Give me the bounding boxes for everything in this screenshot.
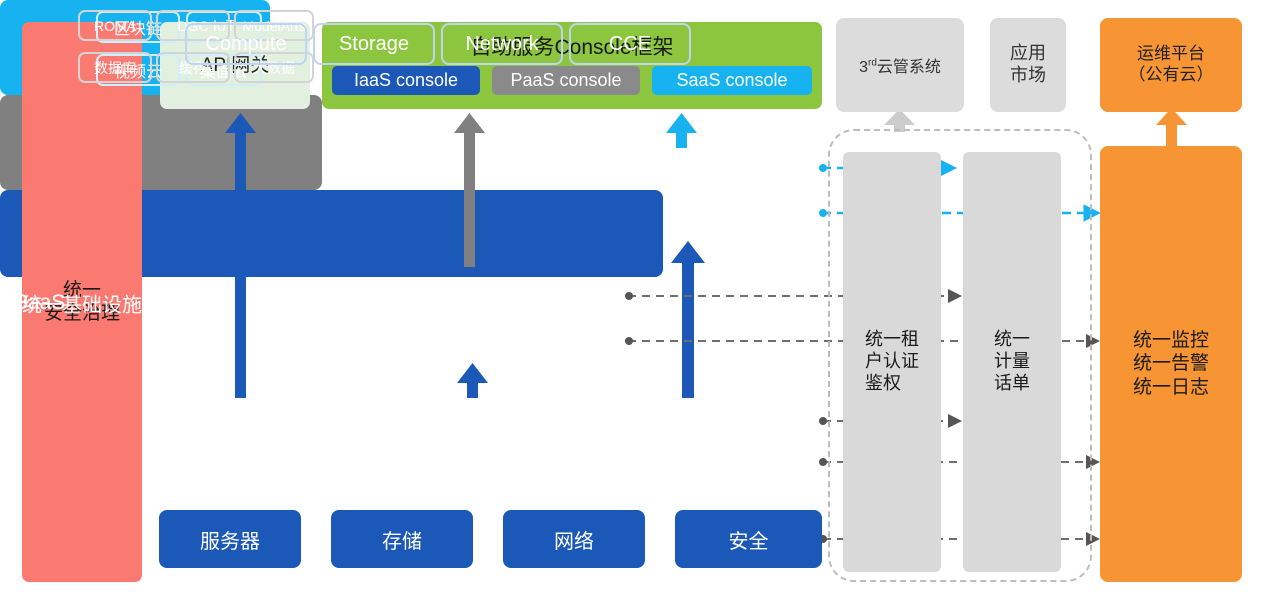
architecture-diagram: 统一租 户认证 鉴权 统一 计量 话单 统一 安全治理 API网关 自助服务Co… [0, 0, 1265, 605]
infra-service-cce-label: CCE [609, 33, 651, 56]
iaas-console-label: IaaS console [354, 70, 458, 91]
infra-service-network[interactable]: Network [441, 23, 563, 65]
resource-server[interactable]: 服务器 [159, 510, 301, 568]
resource-server-label: 服务器 [200, 525, 260, 554]
infra-service-network-label: Network [465, 33, 538, 56]
paas-console-label: PaaS console [510, 70, 621, 91]
saas-console-pill[interactable]: SaaS console [652, 66, 812, 95]
arrow-infra-to-paas [457, 363, 488, 398]
third-party-superscript: rd [868, 58, 877, 69]
third-party-label: 3rd云管系统 [859, 53, 941, 77]
paas-service-roma[interactable]: ROMA [78, 10, 152, 41]
infra-service-storage-label: Storage [339, 33, 409, 56]
saas-console-label: SaaS console [676, 70, 787, 91]
infra-service-storage[interactable]: Storage [313, 23, 435, 65]
infrastructure-name: 统一基础设施服务 [22, 288, 182, 317]
third-party-prefix: 3 [859, 59, 868, 76]
app-market-box[interactable]: 应用 市场 [990, 18, 1066, 112]
resource-security-label: 安全 [729, 525, 769, 554]
ops-monitoring-column[interactable]: 统一监控 统一告警 统一日志 [1100, 146, 1242, 582]
iaas-console-pill[interactable]: IaaS console [332, 66, 480, 95]
infra-service-compute-label: Compute [205, 33, 286, 56]
arrow-saas-to-console [666, 113, 697, 148]
third-party-cloud-mgmt-box[interactable]: 3rd云管系统 [836, 18, 964, 112]
shared-service-auth-label: 统一租 户认证 鉴权 [865, 329, 919, 395]
ops-monitoring-label: 统一监控 统一告警 统一日志 [1133, 329, 1209, 399]
dot [819, 209, 827, 217]
resource-security[interactable]: 安全 [675, 510, 822, 568]
third-party-suffix: 云管系统 [877, 59, 941, 76]
infra-service-cce[interactable]: CCE [569, 23, 691, 65]
paas-service-database-label: 数据库 [94, 58, 136, 78]
shared-service-auth[interactable]: 统一租 户认证 鉴权 [843, 152, 941, 572]
resource-network-label: 网络 [554, 525, 594, 554]
resource-storage[interactable]: 存储 [331, 510, 473, 568]
ops-platform-label: 运维平台 （公有云） [1129, 44, 1214, 85]
paas-console-pill[interactable]: PaaS console [492, 66, 640, 95]
resource-storage-label: 存储 [382, 525, 422, 554]
infra-service-compute[interactable]: Compute [185, 23, 307, 65]
arrow-infra-to-saas [671, 241, 705, 398]
dot [819, 164, 827, 172]
shared-service-metering[interactable]: 统一 计量 话单 [963, 152, 1061, 572]
ops-platform-box[interactable]: 运维平台 （公有云） [1100, 18, 1242, 112]
paas-service-roma-label: ROMA [94, 18, 136, 34]
arrow-to-ops-platform [1156, 108, 1187, 146]
app-market-label: 应用 市场 [1010, 43, 1046, 87]
shared-service-metering-label: 统一 计量 话单 [994, 329, 1030, 395]
paas-service-database[interactable]: 数据库 [78, 52, 152, 83]
resource-network[interactable]: 网络 [503, 510, 645, 568]
